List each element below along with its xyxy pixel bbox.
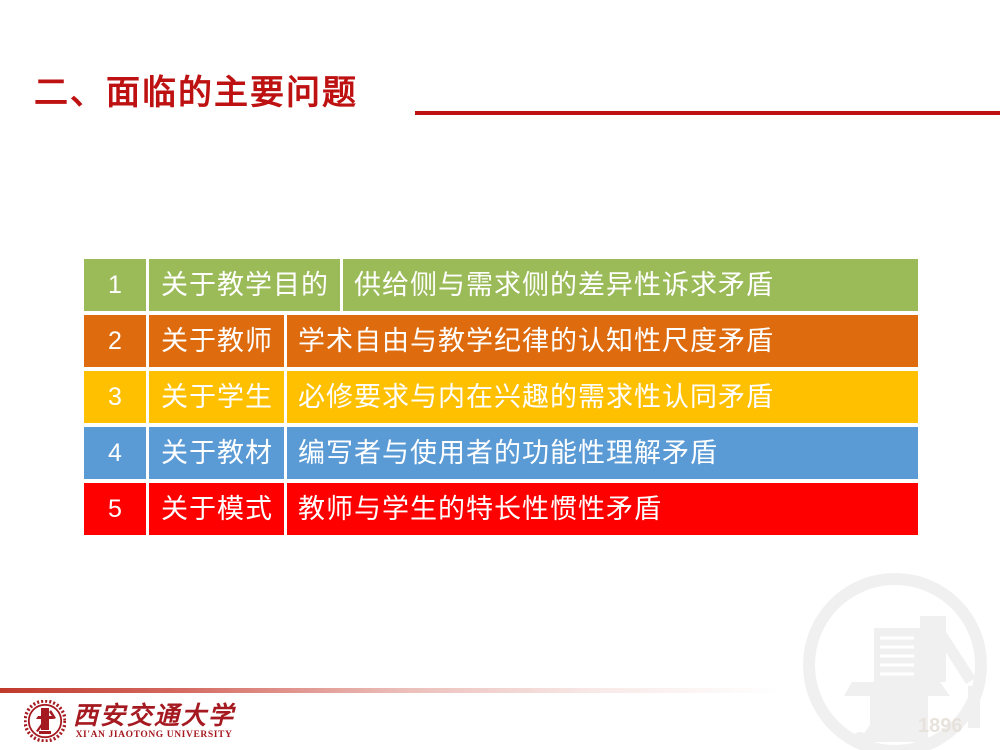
- university-name-en: XI'AN JIAOTONG UNIVERSITY: [73, 729, 235, 741]
- row-index: 3: [84, 371, 146, 423]
- footer-divider-rule: [0, 688, 1000, 693]
- watermark-year: 1896: [918, 715, 963, 737]
- row-topic: 关于教师: [146, 315, 287, 367]
- row-topic: 关于学生: [146, 371, 287, 423]
- row-description: 学术自由与教学纪律的认知性尺度矛盾: [287, 315, 918, 367]
- row-index: 1: [84, 259, 146, 311]
- row-topic: 关于教学目的: [146, 259, 343, 311]
- row-topic: 关于模式: [146, 483, 287, 535]
- university-logo: 西安交通大学 XI'AN JIAOTONG UNIVERSITY: [24, 700, 235, 742]
- row-description: 教师与学生的特长性惯性矛盾: [287, 483, 918, 535]
- table-row[interactable]: 2 关于教师 学术自由与教学纪律的认知性尺度矛盾: [84, 315, 918, 367]
- problems-matrix-table: 1 关于教学目的 供给侧与需求侧的差异性诉求矛盾 2 关于教师 学术自由与教学纪…: [84, 259, 918, 535]
- slide-title-block: 二、面临的主要问题: [0, 72, 1000, 122]
- university-name-cn: 西安交通大学: [73, 702, 235, 729]
- title-underline-rule: [415, 111, 1000, 115]
- row-index: 2: [84, 315, 146, 367]
- university-gear-emblem-icon: [24, 700, 66, 742]
- table-row[interactable]: 4 关于教材 编写者与使用者的功能性理解矛盾: [84, 427, 918, 479]
- table-row[interactable]: 1 关于教学目的 供给侧与需求侧的差异性诉求矛盾: [84, 259, 918, 311]
- university-emblem-watermark: 1896: [800, 570, 1000, 750]
- table-row[interactable]: 5 关于模式 教师与学生的特长性惯性矛盾: [84, 483, 918, 535]
- row-topic: 关于教材: [146, 427, 287, 479]
- university-wordmark: 西安交通大学 XI'AN JIAOTONG UNIVERSITY: [73, 702, 235, 741]
- row-index: 4: [84, 427, 146, 479]
- row-description: 供给侧与需求侧的差异性诉求矛盾: [343, 259, 918, 311]
- row-index: 5: [84, 483, 146, 535]
- table-row[interactable]: 3 关于学生 必修要求与内在兴趣的需求性认同矛盾: [84, 371, 918, 423]
- page-title: 二、面临的主要问题: [34, 72, 358, 114]
- row-description: 必修要求与内在兴趣的需求性认同矛盾: [287, 371, 918, 423]
- gear-teeth: [803, 573, 987, 750]
- presentation-slide: 二、面临的主要问题: [0, 0, 1000, 750]
- row-description: 编写者与使用者的功能性理解矛盾: [287, 427, 918, 479]
